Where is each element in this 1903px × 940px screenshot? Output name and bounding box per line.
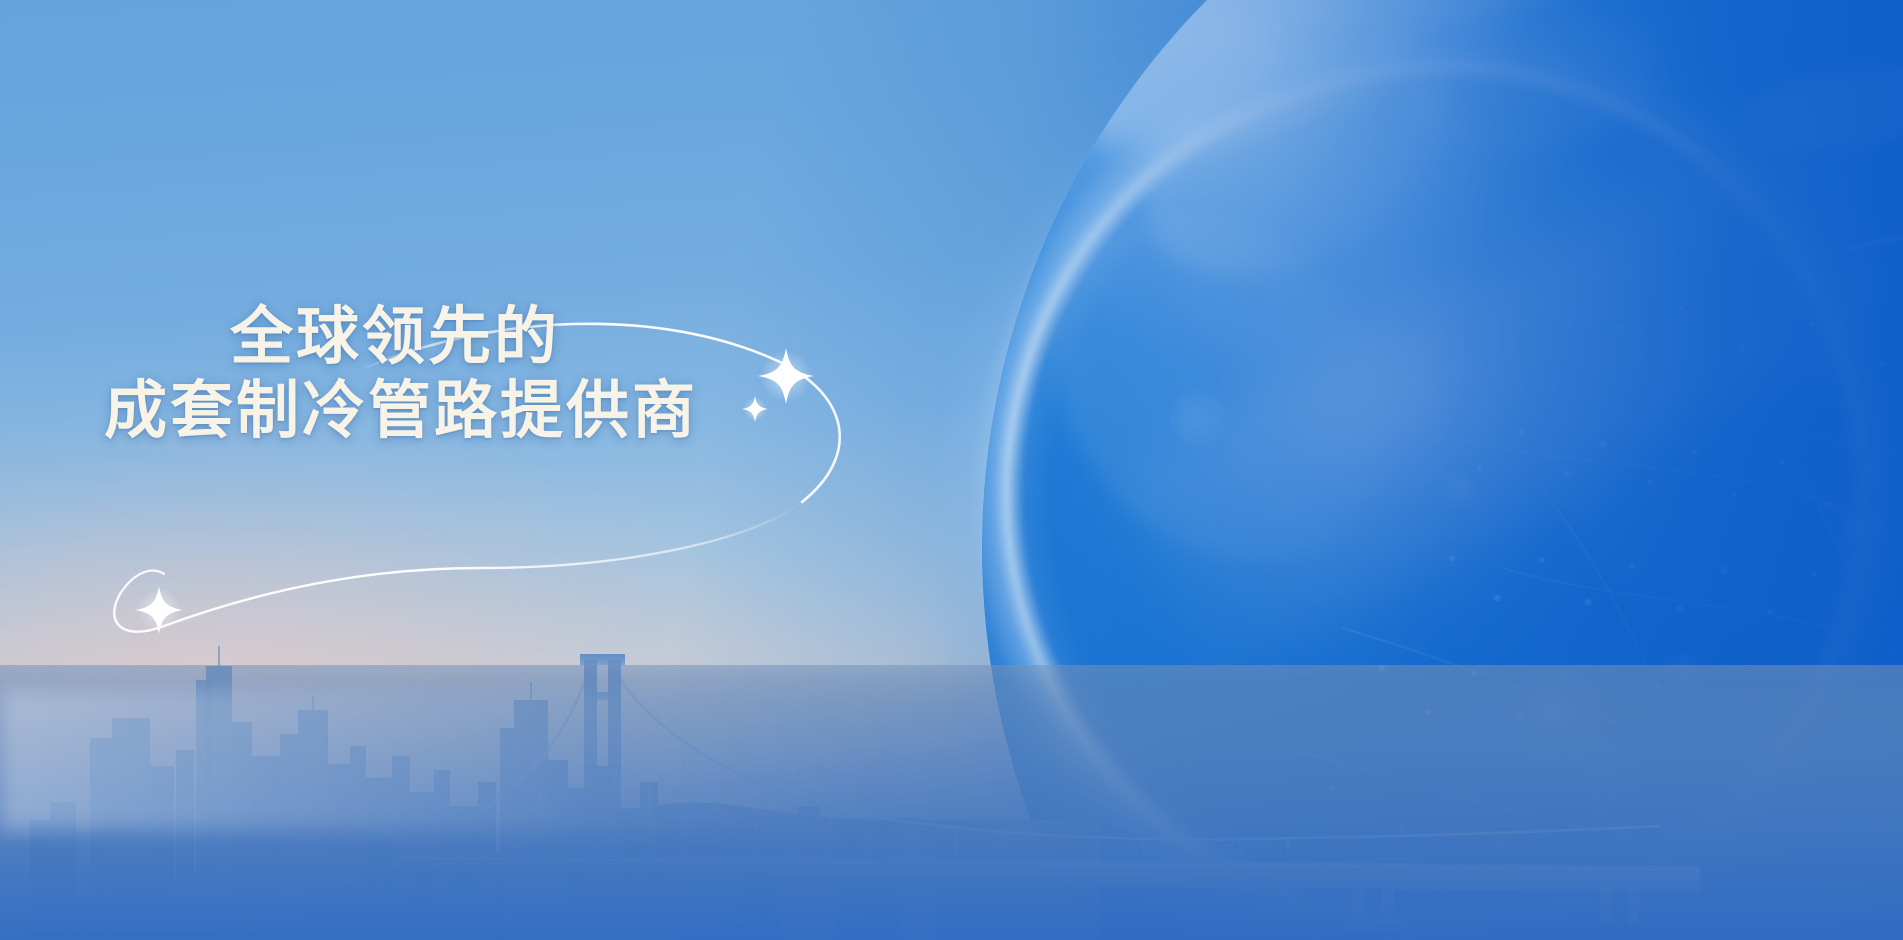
headline-line-2: 成套制冷管路提供商 — [104, 374, 824, 448]
hero-headline: 全球领先的 成套制冷管路提供商 — [104, 300, 824, 448]
hero-banner: 全球领先的 成套制冷管路提供商 — [0, 0, 1903, 940]
headline-line-1: 全球领先的 — [230, 300, 824, 374]
blue-color-cast — [0, 0, 1903, 940]
